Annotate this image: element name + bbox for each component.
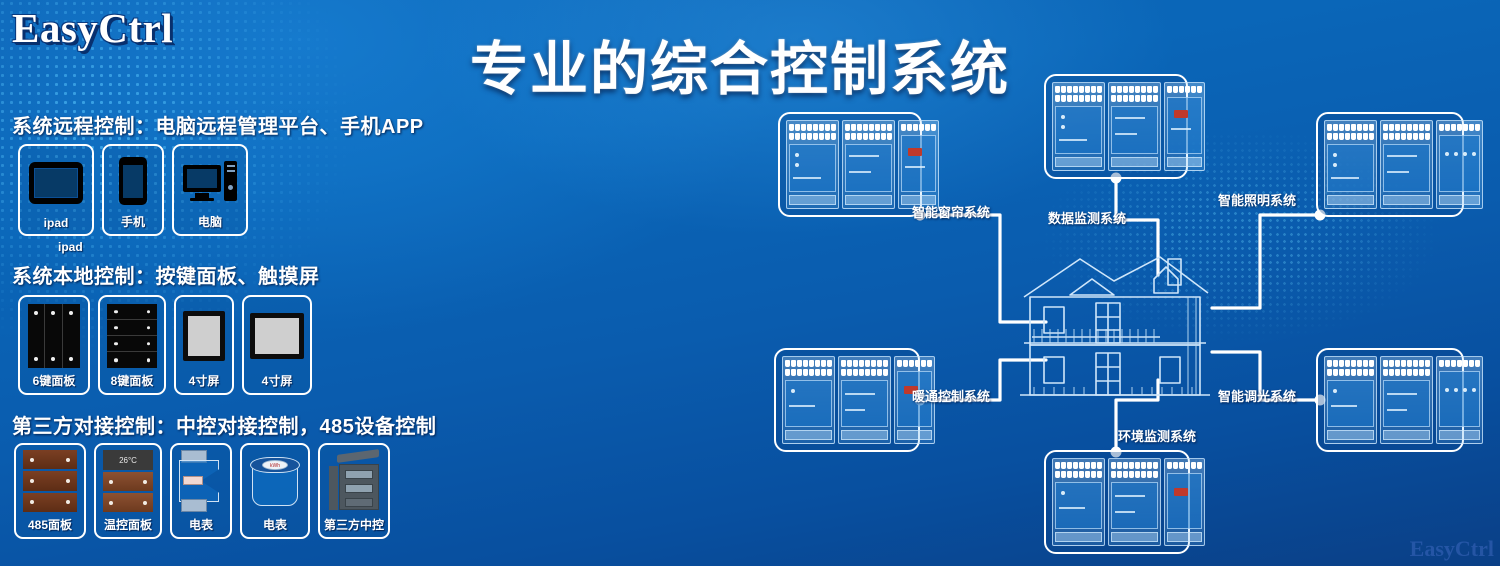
rs485-panel-icon [21,450,79,512]
device-card-label: 4寸屏 [189,372,220,389]
device-card-phone[interactable]: 手机 [102,144,164,236]
round-electric-meter-icon: kWh [247,452,303,512]
device-card-label: 电表 [189,516,213,533]
device-card-485-panel[interactable]: 485面板 [14,443,86,539]
device-card-label: 485面板 [28,516,72,533]
controller-module-data[interactable] [1044,74,1188,179]
third-party-host-icon [325,452,383,512]
thermostat-panel-icon: 26°C [101,450,155,512]
device-card-label: ipad [44,216,69,230]
four-inch-screen-icon [181,304,227,368]
device-card-label: 电脑 [198,213,222,230]
diagram-label-curtain: 智能窗帘系统 [912,202,990,221]
diagram-label-hvac: 暖通控制系统 [912,386,990,405]
controller-module-hvac[interactable] [774,348,920,452]
device-card-meter-box[interactable]: 电表 [170,443,232,539]
smartphone-icon [109,153,157,209]
page-title: 专业的综合控制系统 [455,22,1025,106]
controller-module-curtain[interactable] [778,112,922,217]
device-card-6key-panel[interactable]: 6键面板 [18,295,90,395]
four-inch-screen-wide-icon [249,304,305,368]
device-card-label: 第三方中控 [324,516,384,533]
device-card-label: 8键面板 [111,372,154,389]
local-device-row: 6键面板 8键面板 4寸屏 4寸屏 [18,295,312,395]
diagram-label-environment: 环境监测系统 [1118,426,1196,445]
electric-meter-icon [177,450,225,512]
section-heading-local: 系统本地控制：按键面板、触摸屏 [12,260,320,289]
controller-module-environment[interactable] [1044,450,1190,554]
device-card-thermostat-panel[interactable]: 26°C 温控面板 [94,443,162,539]
device-card-label: 手机 [121,213,145,230]
diagram-label-data: 数据监测系统 [1048,208,1126,227]
device-card-4inch-screen[interactable]: 4寸屏 [174,295,234,395]
two-story-house-icon [1010,245,1220,415]
device-card-8key-panel[interactable]: 8键面板 [98,295,166,395]
device-card-third-party-host[interactable]: 第三方中控 [318,443,390,539]
meter-dial-reading: kWh [262,460,288,470]
device-card-label: 4寸屏 [262,372,293,389]
section-heading-remote: 系统远程控制：电脑远程管理平台、手机APP [12,110,424,139]
third-party-device-row: 485面板 26°C 温控面板 电表 [14,443,390,539]
brand-logo: EasyCtrl [12,4,173,52]
device-card-label: 6键面板 [33,372,76,389]
controller-module-lighting[interactable] [1316,112,1464,217]
stray-ipad-label: ipad [58,240,83,254]
tablet-icon [25,153,87,212]
eight-key-panel-icon [105,304,159,368]
section-heading-third-party: 第三方对接控制：中控对接控制，485设备控制 [12,410,436,439]
device-card-label: 温控面板 [104,516,152,533]
remote-device-row: ipad 手机 电脑 [18,144,248,236]
device-card-ipad[interactable]: ipad [18,144,94,236]
desktop-computer-icon [179,153,241,209]
device-card-computer[interactable]: 电脑 [172,144,248,236]
device-card-4inch-screen-wide[interactable]: 4寸屏 [242,295,312,395]
device-card-label: 电表 [263,516,287,533]
system-topology-diagram: 智能窗帘系统 数据监测系统 智能照明系统 暖通控制系统 环境监测系统 智能调光系… [760,60,1500,566]
thermostat-display: 26°C [103,450,153,470]
six-key-panel-icon [25,304,83,368]
diagram-label-dimming: 智能调光系统 [1218,386,1296,405]
device-card-meter-round[interactable]: kWh 电表 [240,443,310,539]
controller-module-dimming[interactable] [1316,348,1464,452]
poster-canvas: EasyCtrl 专业的综合控制系统 系统远程控制：电脑远程管理平台、手机APP… [0,0,1500,566]
diagram-label-lighting: 智能照明系统 [1218,190,1296,209]
